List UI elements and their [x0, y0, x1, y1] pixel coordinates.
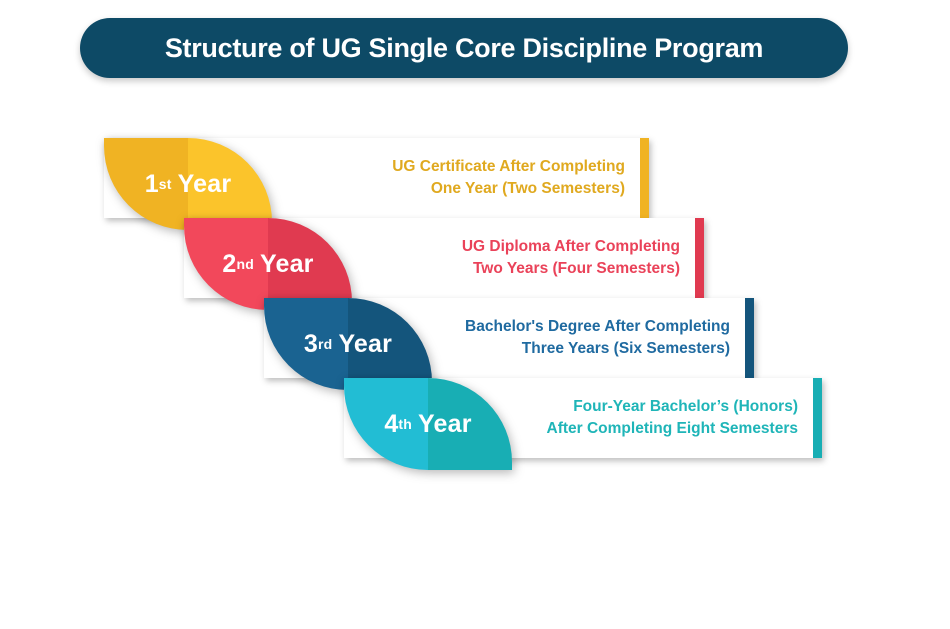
- year-row: Four-Year Bachelor’s (Honors)After Compl…: [344, 378, 822, 458]
- card-description-line-2: After Completing Eight Semesters: [547, 418, 799, 440]
- year-row: Bachelor's Degree After CompletingThree …: [264, 298, 754, 378]
- year-badge-label: 4thYear: [344, 378, 512, 470]
- year-badge[interactable]: 3rdYear: [264, 298, 432, 390]
- card-accent-bar: [813, 378, 822, 458]
- year-badge-label: 2ndYear: [184, 218, 352, 310]
- card-description: Bachelor's Degree After CompletingThree …: [465, 298, 730, 378]
- card-description: Four-Year Bachelor’s (Honors)After Compl…: [547, 378, 799, 458]
- card-description-line-2: One Year (Two Semesters): [431, 178, 625, 200]
- card-accent-bar: [745, 298, 754, 378]
- year-badge-label: 3rdYear: [264, 298, 432, 390]
- year-ordinal-number: 2: [222, 250, 236, 279]
- card-description: UG Certificate After CompletingOne Year …: [392, 138, 625, 218]
- card-description-line-1: Bachelor's Degree After Completing: [465, 316, 730, 338]
- page-title-banner: Structure of UG Single Core Discipline P…: [80, 18, 848, 78]
- year-row: UG Certificate After CompletingOne Year …: [104, 138, 649, 218]
- card-description-line-1: Four-Year Bachelor’s (Honors): [573, 396, 798, 418]
- year-word: Year: [338, 330, 392, 359]
- year-ordinal-number: 1: [145, 170, 159, 199]
- year-word: Year: [260, 250, 314, 279]
- year-badge-label: 1stYear: [104, 138, 272, 230]
- year-word: Year: [178, 170, 232, 199]
- year-word: Year: [418, 410, 472, 439]
- card-description-line-1: UG Certificate After Completing: [392, 156, 625, 178]
- year-badge[interactable]: 4thYear: [344, 378, 512, 470]
- year-ordinal-number: 4: [384, 410, 398, 439]
- year-badge[interactable]: 2ndYear: [184, 218, 352, 310]
- year-row: UG Diploma After CompletingTwo Years (Fo…: [184, 218, 704, 298]
- year-badge[interactable]: 1stYear: [104, 138, 272, 230]
- page-title: Structure of UG Single Core Discipline P…: [165, 33, 763, 64]
- card-description-line-1: UG Diploma After Completing: [462, 236, 680, 258]
- card-accent-bar: [695, 218, 704, 298]
- card-description: UG Diploma After CompletingTwo Years (Fo…: [462, 218, 680, 298]
- card-accent-bar: [640, 138, 649, 218]
- year-ordinal-number: 3: [304, 330, 318, 359]
- card-description-line-2: Three Years (Six Semesters): [522, 338, 730, 360]
- infographic-root: Structure of UG Single Core Discipline P…: [0, 0, 950, 629]
- card-description-line-2: Two Years (Four Semesters): [473, 258, 680, 280]
